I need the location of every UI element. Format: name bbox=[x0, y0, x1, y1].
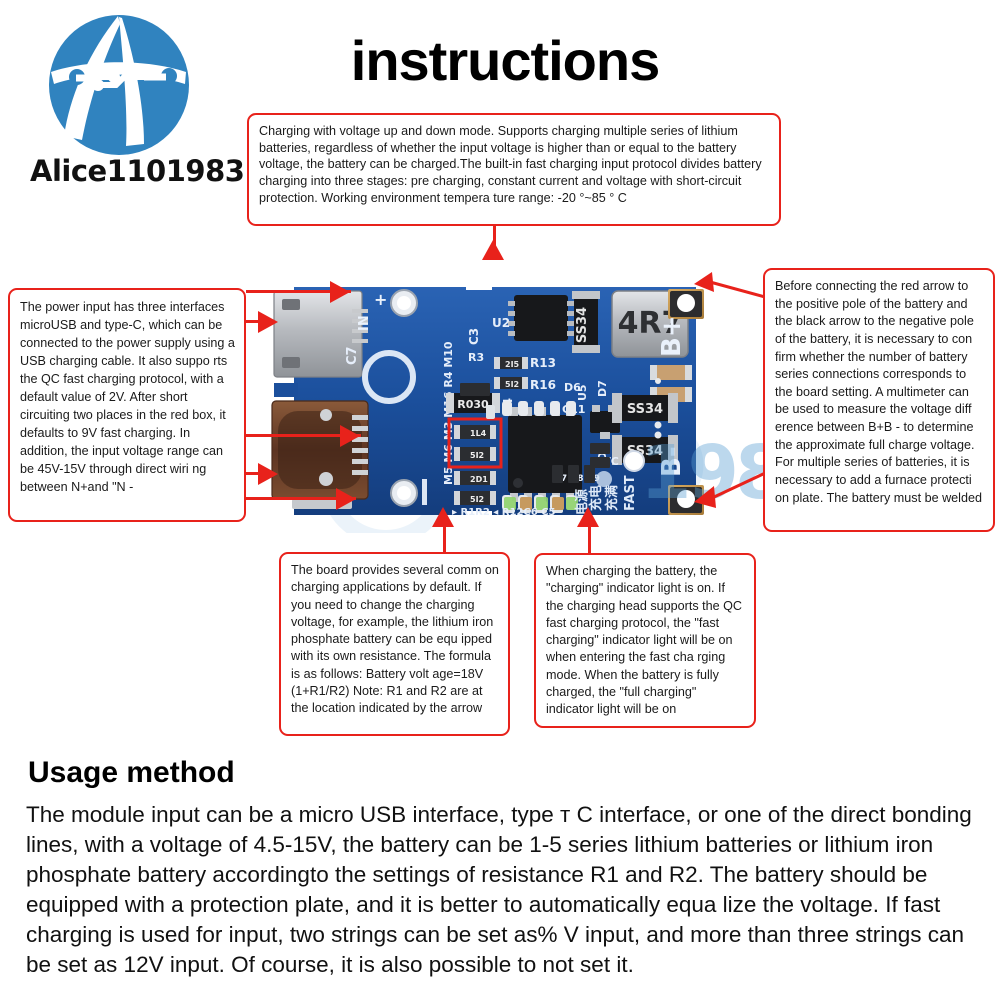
svg-text:SS34: SS34 bbox=[627, 402, 663, 417]
alice-circuit-a-logo-icon bbox=[48, 14, 190, 156]
brand-name-text: Alice1101983 bbox=[30, 154, 220, 188]
svg-text:充满: 充满 bbox=[604, 485, 620, 511]
callout-power-input: The power input has three interfaces mic… bbox=[8, 288, 246, 522]
brand-logo-block: Alice1101983 bbox=[30, 14, 220, 194]
svg-text:SS34: SS34 bbox=[575, 307, 590, 343]
svg-text:R3: R3 bbox=[468, 351, 484, 364]
callout-charging-mode: Charging with voltage up and down mode. … bbox=[247, 113, 781, 226]
svg-text:R030: R030 bbox=[457, 398, 489, 411]
arrow-up-top bbox=[482, 240, 504, 260]
svg-text:5I2: 5I2 bbox=[470, 451, 484, 460]
svg-text:1L4: 1L4 bbox=[470, 429, 487, 438]
svg-text:U5: U5 bbox=[576, 384, 589, 401]
arrow-right-left-2 bbox=[258, 311, 278, 333]
usage-method-body: The module input can be a micro USB inte… bbox=[26, 800, 980, 980]
svg-text:+: + bbox=[374, 290, 387, 309]
svg-text:C3: C3 bbox=[467, 328, 481, 345]
callout-charging-voltage-resistors: The board provides several comm on charg… bbox=[279, 552, 510, 736]
svg-text:C7: C7 bbox=[345, 346, 360, 365]
page-title: instructions bbox=[305, 28, 705, 93]
arrow-right-left-1 bbox=[330, 281, 350, 303]
svg-text:5I2: 5I2 bbox=[470, 495, 484, 504]
arrow-right-left-4 bbox=[258, 463, 278, 485]
instruction-sheet-page: Alice1101983 instructions Charging with … bbox=[0, 0, 1000, 1000]
arrow-up-bottom-left bbox=[432, 507, 454, 527]
arrow-right-left-3 bbox=[340, 425, 360, 447]
arrow-up-bottom-right bbox=[577, 507, 599, 527]
svg-text:IN: IN bbox=[357, 315, 372, 331]
svg-text:FAST: FAST bbox=[623, 475, 638, 511]
callout-battery-terminals: Before connecting the red arrow to the p… bbox=[763, 268, 995, 532]
svg-text:R13: R13 bbox=[530, 356, 556, 370]
svg-text:5I2: 5I2 bbox=[505, 380, 519, 389]
svg-text:R16: R16 bbox=[530, 378, 556, 392]
svg-text:D7: D7 bbox=[596, 380, 609, 397]
svg-text:2I5: 2I5 bbox=[505, 360, 520, 369]
arrow-right-left-5 bbox=[336, 488, 356, 510]
svg-text:2D1: 2D1 bbox=[470, 475, 488, 484]
callout-indicator-lights: When charging the battery, the "charging… bbox=[534, 553, 756, 728]
usage-method-heading: Usage method bbox=[28, 756, 235, 790]
svg-text:B+: B+ bbox=[657, 315, 687, 357]
svg-text:U2: U2 bbox=[492, 316, 510, 330]
